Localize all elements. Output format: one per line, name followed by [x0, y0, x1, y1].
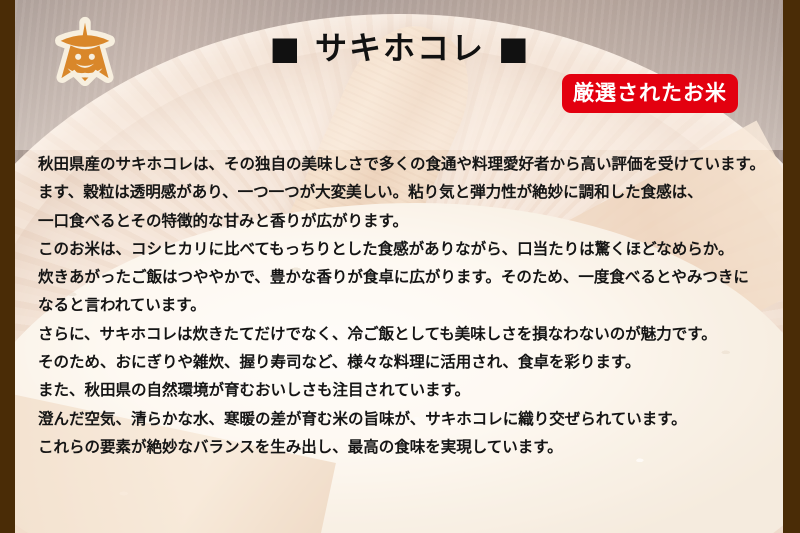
body-copy: 秋田県産のサキホコレは、その独自の美味しさで多くの食通や料理愛好者から高い評価を… [38, 150, 768, 461]
border-right [783, 0, 800, 533]
body-line: このお米は、コシヒカリに比べてもっちりとした食感がありながら、口当たりは驚くほど… [38, 235, 768, 263]
status-badge: 厳選されたお米 [562, 74, 738, 113]
product-banner: ■ サキホコレ ■ 厳選されたお米 秋田県産のサキホコレは、その独自の美味しさで… [0, 0, 800, 533]
border-left [0, 0, 15, 533]
body-line: 秋田県産のサキホコレは、その独自の美味しさで多くの食通や料理愛好者から高い評価を… [38, 150, 768, 178]
body-line: ます、穀粒は透明感があり、一つ一つが大変美しい。粘り気と弾力性が絶妙に調和した食… [38, 178, 768, 206]
page-title: ■ サキホコレ ■ [0, 28, 800, 68]
body-line: 澄んだ空気、清らかな水、寒暖の差が育む米の旨味が、サキホコレに織り交ぜられていま… [38, 405, 768, 433]
body-line: そのため、おにぎりや雑炊、握り寿司など、様々な料理に活用され、食卓を彩ります。 [38, 348, 768, 376]
body-line: 一口食べるとその特徴的な甘みと香りが広がります。 [38, 207, 768, 235]
body-line: さらに、サキホコレは炊きたてだけでなく、冷ご飯としても美味しさを損なわないのが魅… [38, 320, 768, 348]
body-line: また、秋田県の自然環境が育むおいしさも注目されています。 [38, 376, 768, 404]
body-line: これらの要素が絶妙なバランスを生み出し、最高の食味を実現しています。 [38, 433, 768, 461]
body-line: 炊きあがったご飯はつややかで、豊かな香りが食卓に広がります。そのため、一度食べる… [38, 263, 768, 291]
body-line: なると言われています。 [38, 291, 768, 319]
